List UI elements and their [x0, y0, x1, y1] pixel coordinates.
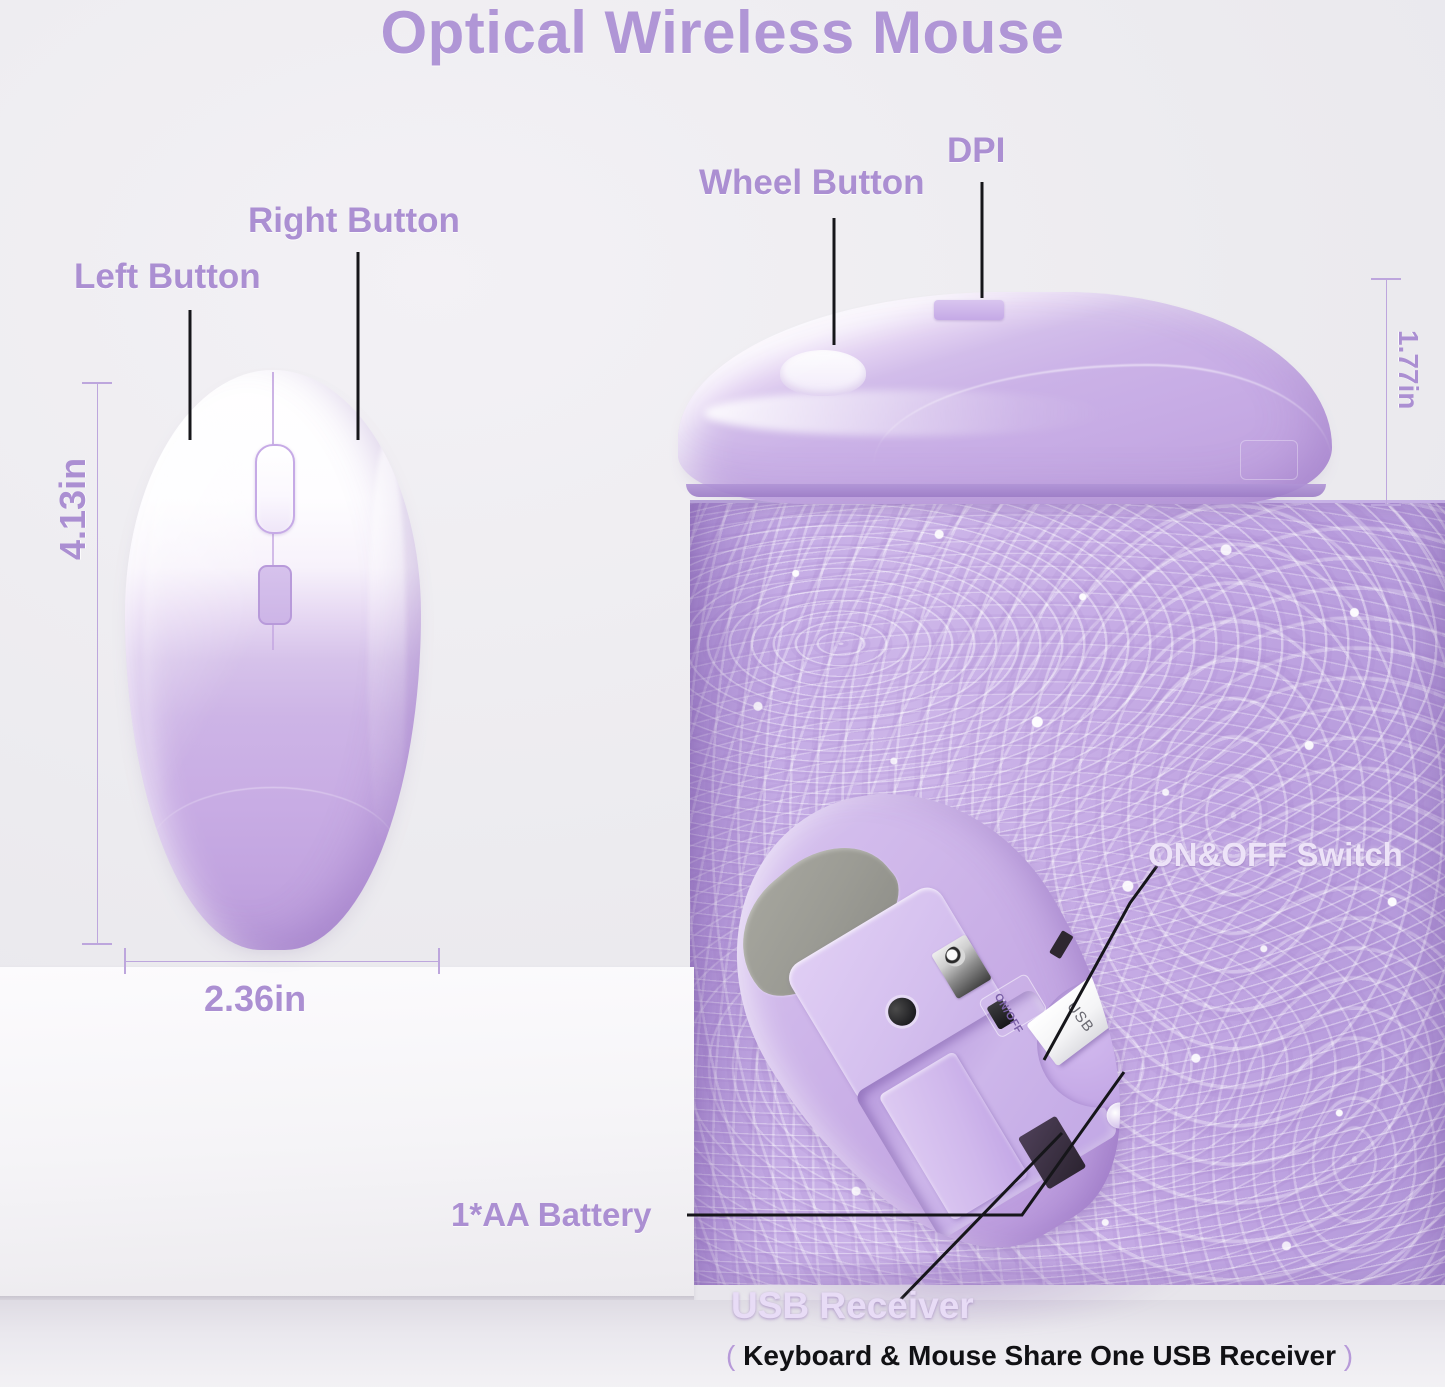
- dpi-button: [258, 565, 292, 625]
- width-dimension-label: 2.36in: [204, 978, 306, 1020]
- height-dimension-line: [97, 382, 98, 944]
- callout-wheel-button: Wheel Button: [699, 163, 925, 203]
- mouse-side-shell: [678, 292, 1332, 504]
- width-dimension-line: [124, 961, 440, 962]
- product-infographic: Optical Wireless Mouse: [0, 0, 1445, 1387]
- mouse-side-view: [672, 288, 1338, 520]
- callout-dpi: DPI: [947, 131, 1005, 171]
- callout-left-button: Left Button: [74, 257, 261, 297]
- scroll-wheel-profile: [780, 350, 866, 396]
- floor-platform: [0, 967, 694, 1300]
- width-dimension-cap-left: [124, 948, 126, 974]
- height-dimension-cap-bottom: [82, 943, 112, 945]
- page-title: Optical Wireless Mouse: [0, 0, 1445, 67]
- bottom-tab-lower: [1150, 1103, 1162, 1126]
- callout-usb-receiver: USB Receiver: [731, 1285, 974, 1327]
- depth-dimension-line: [1386, 278, 1387, 506]
- footer-open-paren: (: [726, 1340, 735, 1371]
- depth-dimension-cap-top: [1371, 278, 1401, 280]
- footer-note-text: Keyboard & Mouse Share One USB Receiver: [743, 1340, 1336, 1371]
- mouse-side-sheen: [704, 390, 1109, 437]
- width-dimension-cap-right: [438, 948, 440, 974]
- dpi-button-profile: [934, 300, 1004, 320]
- mouse-bottom-rim: [149, 787, 398, 916]
- callout-onoff-switch: ON&OFF Switch: [1148, 836, 1403, 874]
- bottom-tab-upper: [1049, 930, 1074, 959]
- mouse-side-base-strip: [686, 484, 1326, 497]
- footer-close-paren: ): [1344, 1340, 1353, 1371]
- usb-dongle-label: USB: [1063, 998, 1097, 1035]
- height-dimension-cap-top: [82, 382, 112, 384]
- footer-note: ( Keyboard & Mouse Share One USB Receive…: [726, 1340, 1353, 1372]
- mouse-top-view: [125, 370, 421, 950]
- depth-dimension-label: 1.77in: [1392, 330, 1424, 409]
- callout-right-button: Right Button: [248, 201, 460, 241]
- depth-dimension-cap-bottom: [1371, 504, 1401, 506]
- mouse-side-panel-detail: [1240, 440, 1298, 480]
- callout-battery: 1*AA Battery: [451, 1196, 652, 1234]
- mouse-gloss-right: [368, 440, 406, 869]
- height-dimension-label: 4.13in: [52, 458, 94, 560]
- scroll-wheel: [255, 444, 295, 534]
